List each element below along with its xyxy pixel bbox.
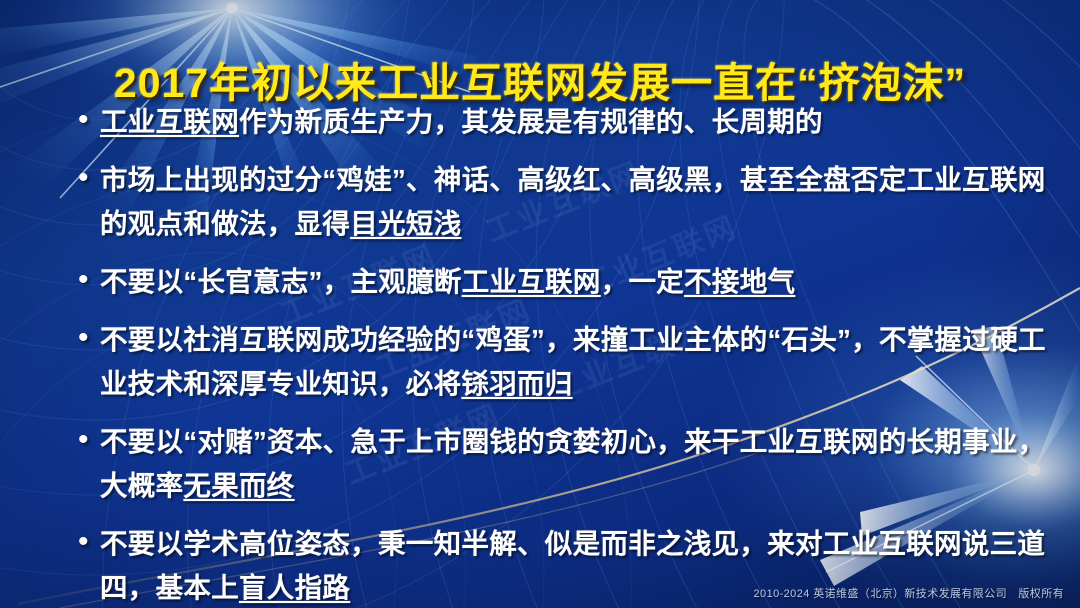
bullet-text-emphasis: 工业互联网 [462,266,601,297]
bullet-text-plain: 不要以“长官意志”，主观臆断 [100,266,462,297]
bullet-text-emphasis: 工业互联网 [100,106,239,137]
bullet-text-emphasis: 目光短浅 [350,208,461,239]
bullet-marker-icon: • [78,260,100,300]
bullet-text: 市场上出现的过分“鸡娃”、神话、高级红、高级黑，甚至全盘否定工业互联网的观点和做… [100,158,1062,246]
bullet-item: •不要以社消互联网成功经验的“鸡蛋”，来撞工业主体的“石头”，不掌握过硬工业技术… [78,318,1062,406]
bullet-marker-icon: • [78,318,100,358]
bullet-list: •工业互联网作为新质生产力，其发展是有规律的、长周期的•市场上出现的过分“鸡娃”… [78,100,1062,608]
bullet-marker-icon: • [78,420,100,460]
bullet-text-plain: ，一定 [601,266,684,297]
bullet-text-emphasis: 无果而终 [183,470,294,501]
presentation-slide: 工业互联网 工业互联网 工业互联网 工业互联网 工业互联网 工业互联网 2017… [0,0,1080,608]
bullet-text: 不要以“对赌”资本、急于上市圈钱的贪婪初心，来干工业互联网的长期事业，大概率无果… [100,420,1062,508]
bullet-text: 不要以社消互联网成功经验的“鸡蛋”，来撞工业主体的“石头”，不掌握过硬工业技术和… [100,318,1062,406]
bullet-marker-icon: • [78,158,100,198]
bullet-marker-icon: • [78,522,100,562]
bullet-text: 工业互联网作为新质生产力，其发展是有规律的、长周期的 [100,100,1062,144]
bullet-text-plain: 作为新质生产力，其发展是有规律的、长周期的 [239,106,823,137]
bullet-text-emphasis: 盲人指路 [239,572,350,603]
footer-copyright: 2010-2024 英诺维盛（北京）新技术发展有限公司 版权所有 [754,585,1064,601]
bullet-item: •不要以“对赌”资本、急于上市圈钱的贪婪初心，来干工业互联网的长期事业，大概率无… [78,420,1062,508]
bullet-marker-icon: • [78,100,100,140]
bullet-item: •不要以“长官意志”，主观臆断工业互联网，一定不接地气 [78,260,1062,304]
bullet-text-emphasis: 铩羽而归 [461,368,572,399]
bullet-item: •工业互联网作为新质生产力，其发展是有规律的、长周期的 [78,100,1062,144]
bullet-text-emphasis: 不接地气 [684,266,795,297]
bullet-item: •市场上出现的过分“鸡娃”、神话、高级红、高级黑，甚至全盘否定工业互联网的观点和… [78,158,1062,246]
bullet-text-plain: 市场上出现的过分“鸡娃”、神话、高级红、高级黑，甚至全盘否定工业互联网的观点和做… [100,164,1046,239]
bullet-text: 不要以“长官意志”，主观臆断工业互联网，一定不接地气 [100,260,1062,304]
